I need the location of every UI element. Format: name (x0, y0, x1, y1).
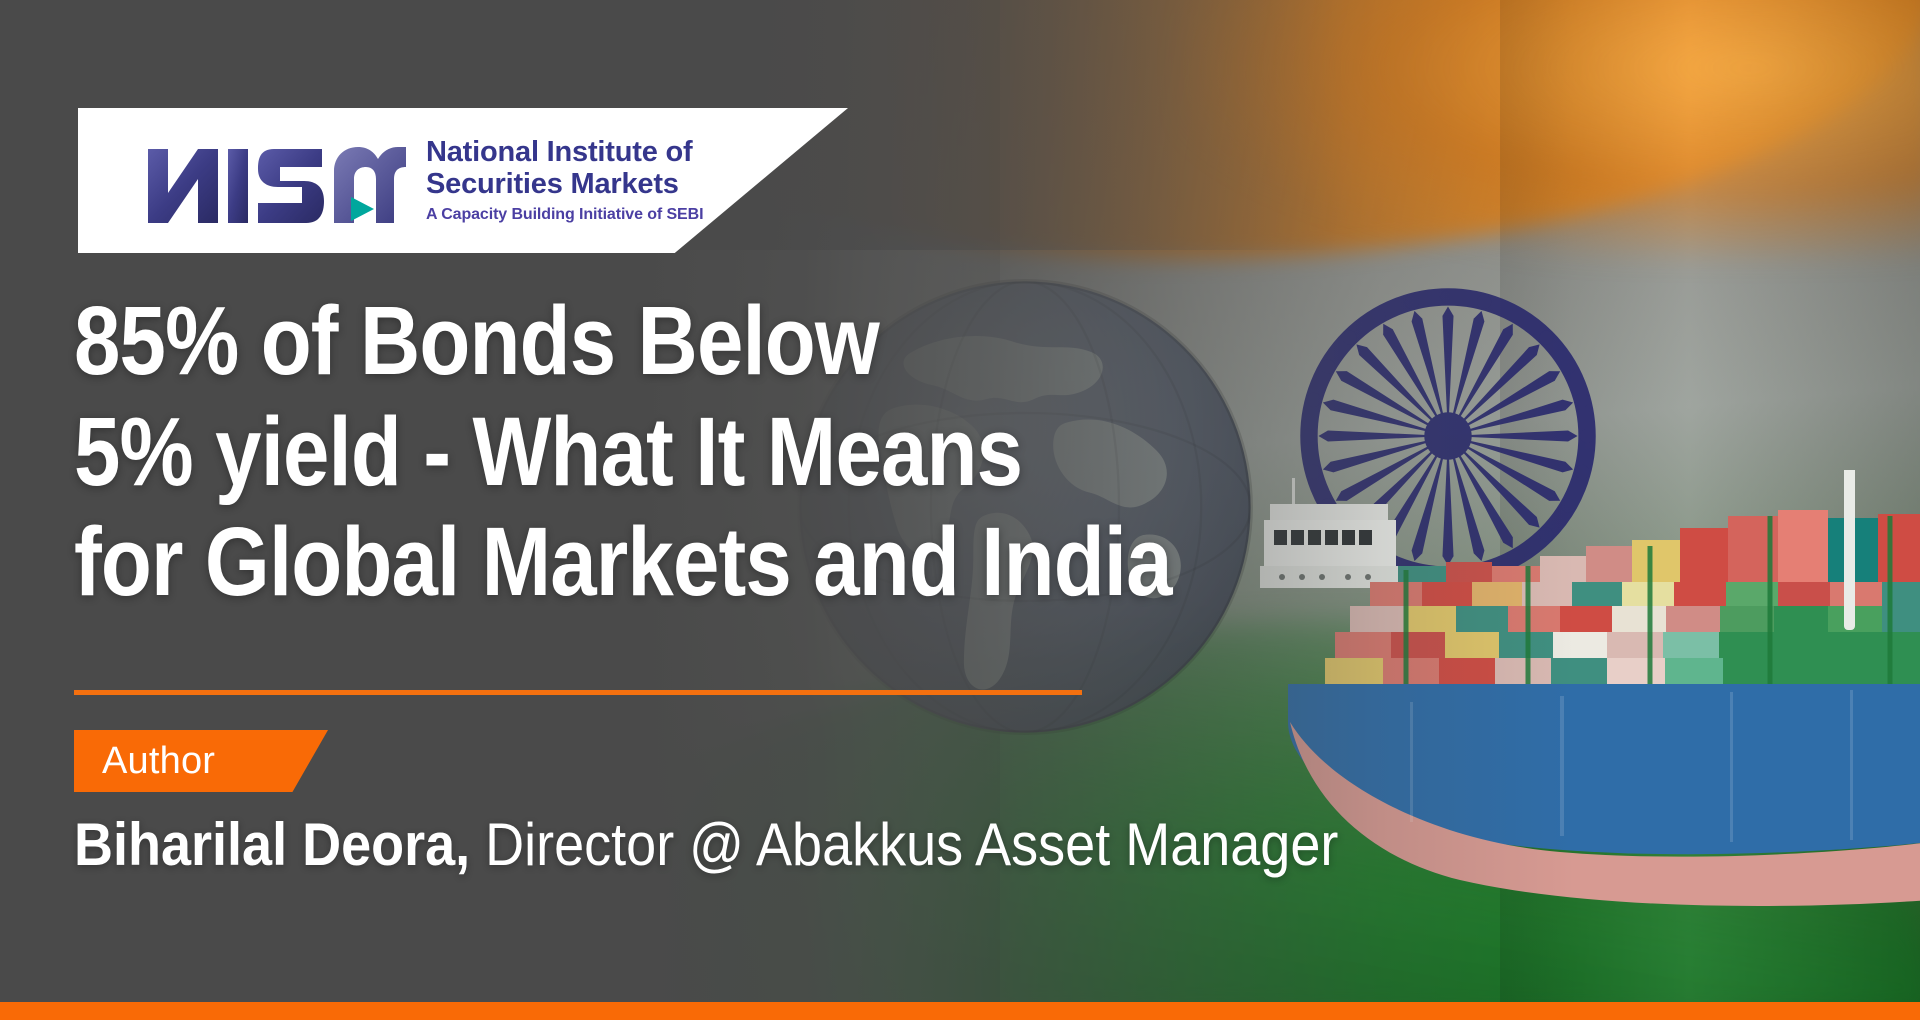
page-title: 85% of Bonds Below 5% yield - What It Me… (74, 286, 1295, 618)
banner-canvas: National Institute of Securities Markets… (0, 0, 1920, 1020)
nism-logo-icon (146, 135, 406, 227)
author-byline: Biharilal Deora, Director @ Abakkus Asse… (74, 815, 1338, 875)
divider-rule (74, 690, 1082, 695)
author-name: Biharilal Deora, (74, 811, 470, 878)
brand-tagline: A Capacity Building Initiative of SEBI (426, 206, 703, 224)
headline-line-2: 5% yield - What It Means (74, 397, 1295, 508)
headline-line-3: for Global Markets and India (74, 507, 1295, 618)
brand-name-line2: Securities Markets (426, 169, 703, 200)
nism-logo-text: National Institute of Securities Markets… (426, 137, 703, 223)
headline-line-1: 85% of Bonds Below (74, 286, 1295, 397)
brand-name-line1: National Institute of (426, 137, 703, 168)
banner-content: National Institute of Securities Markets… (0, 0, 1920, 1020)
author-badge-label: Author (102, 740, 215, 783)
author-badge: Author (74, 730, 328, 792)
bottom-accent-bar (0, 1002, 1920, 1020)
nism-logo-panel: National Institute of Securities Markets… (78, 108, 848, 253)
author-role: Director @ Abakkus Asset Manager (470, 811, 1338, 878)
